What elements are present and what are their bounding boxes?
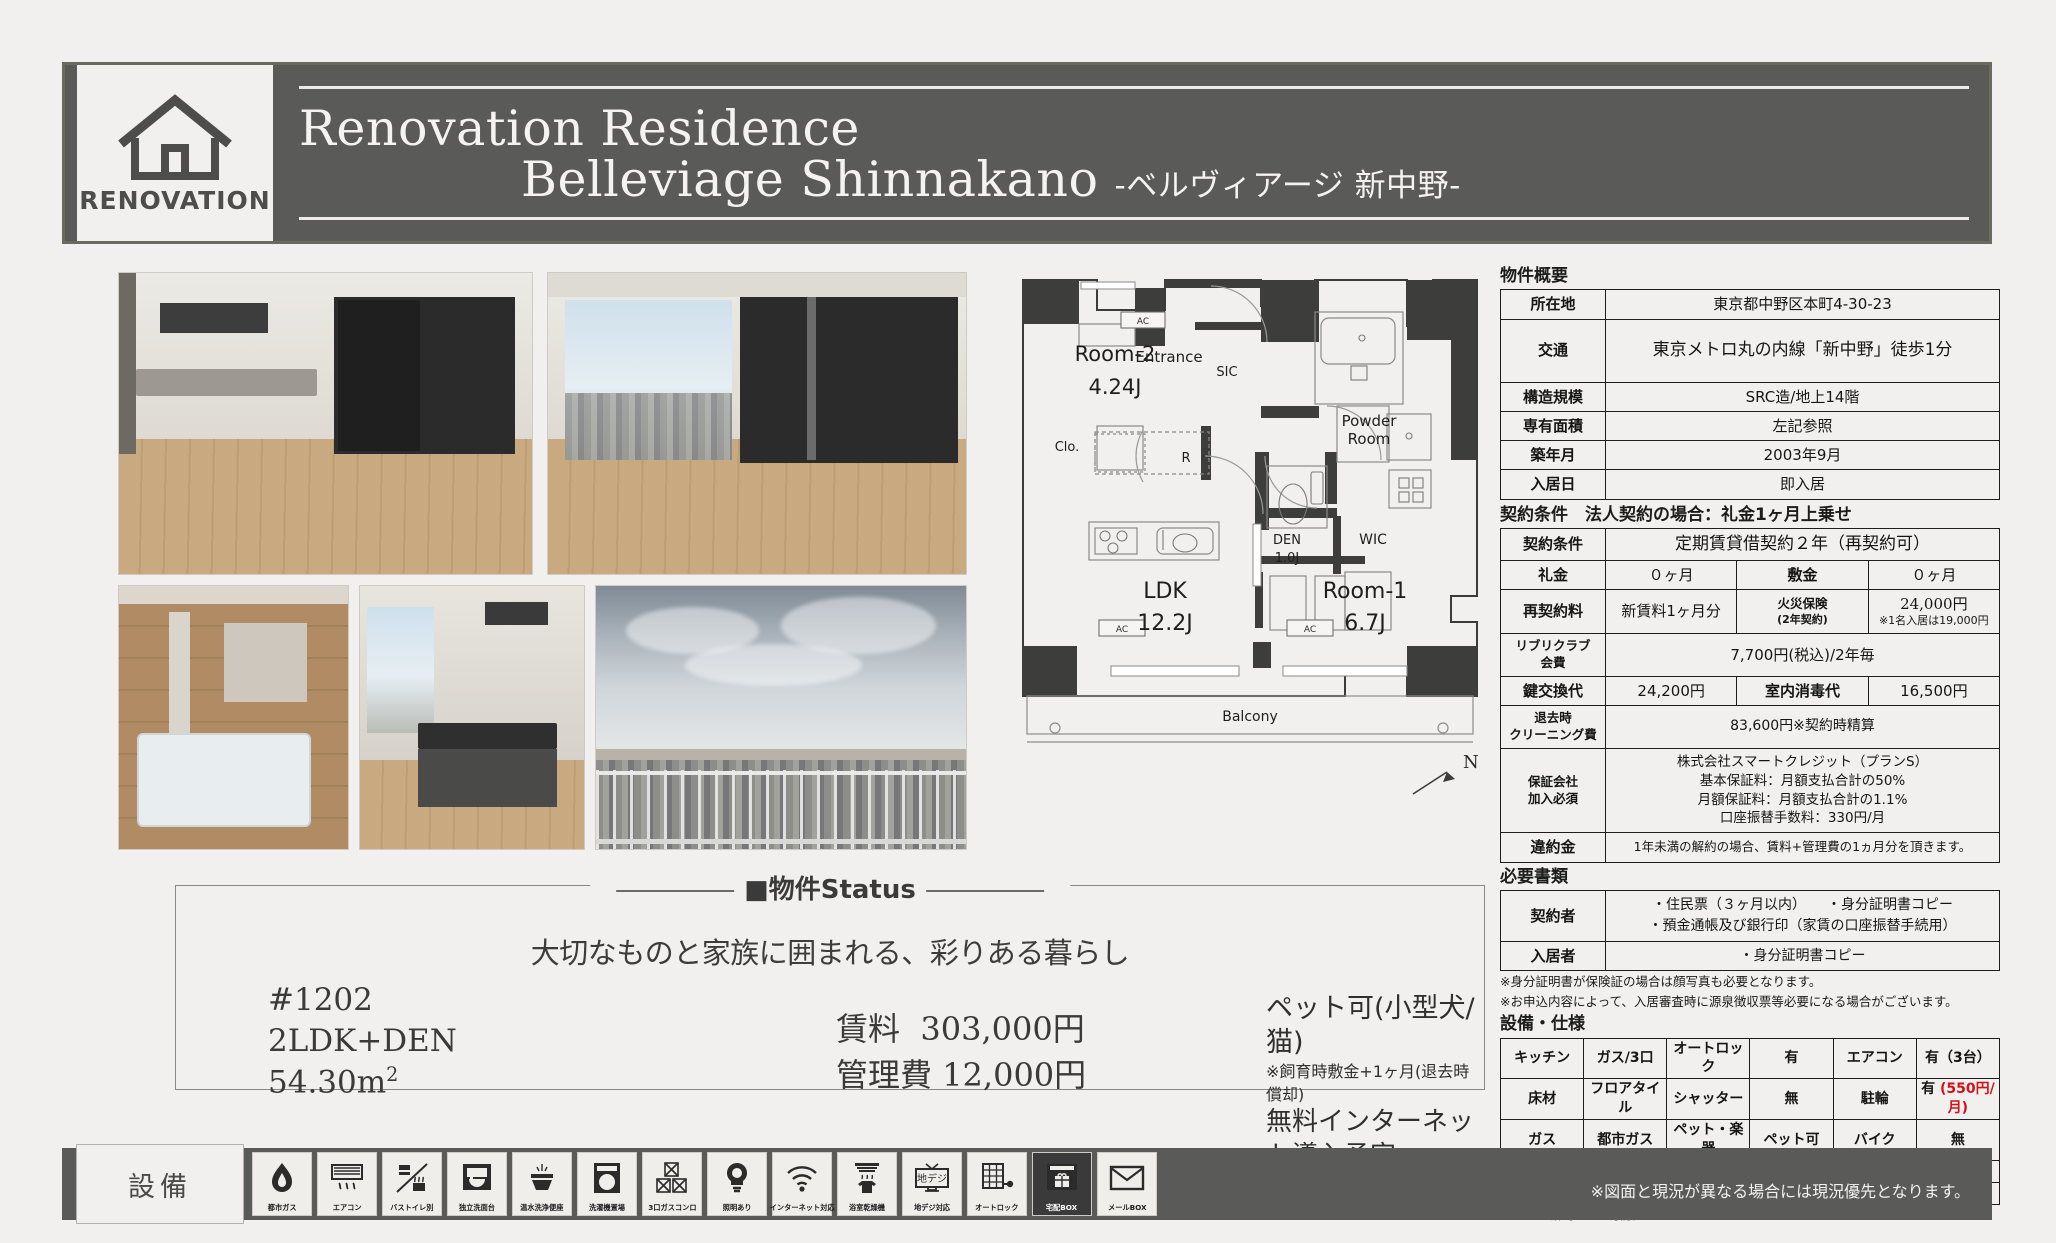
lighting-icon: [708, 1153, 766, 1202]
label-balcony: Balcony: [1222, 709, 1278, 725]
room-label-den: DEN: [1273, 533, 1301, 548]
label-fridge: R: [1181, 451, 1190, 466]
table-row: 再契約料 新賃料1ヶ月分 火災保険(2年契約) 24,000円※1名入居は19,…: [1501, 589, 2000, 633]
page-title-en: Belleviage Shinnakano: [521, 151, 1098, 208]
equipment-item-washing-machine: 洗濯機置場: [577, 1152, 637, 1216]
mail-box-icon: [1098, 1153, 1156, 1202]
table-row: 礼金 ０ヶ月 敷金 ０ヶ月: [1501, 560, 2000, 589]
status-left-block: #1202 2LDK+DEN 54.30m2: [268, 980, 457, 1104]
table-row: 契約条件定期賃貸借契約２年（再契約可）: [1501, 528, 2000, 560]
label-sic: SIC: [1216, 365, 1237, 380]
svg-text:地デジ: 地デジ: [917, 1172, 947, 1185]
photo-living-window-view: [547, 272, 967, 575]
property-status-box: ■物件Status 大切なものと家族に囲まれる、彩りある暮らし #1202 2L…: [175, 885, 1485, 1090]
table-row: 保証会社加入必須 株式会社スマートクレジット（プランS） 基本保証料：月額支払合…: [1501, 748, 2000, 833]
page-title-line2: Belleviage Shinnakano -ベルヴィアージ 新中野-: [299, 154, 1969, 205]
status-price-block: 賃料 303,000円 管理費 12,000円: [836, 1006, 1086, 1099]
disclaimer-text: ※図面と現況が異なる場合には現況優先となります。: [1591, 1178, 1970, 1202]
equipment-item-washlet-toilet: 温水洗浄便座: [512, 1152, 572, 1216]
north-arrow-icon: N: [1413, 752, 1479, 794]
delivery-box-icon: [1033, 1153, 1091, 1202]
equipment-item-air-conditioner: エアコン: [317, 1152, 377, 1216]
auto-lock-icon: [968, 1153, 1026, 1202]
room-number: #1202: [268, 980, 457, 1021]
air-conditioner-icon: [318, 1153, 376, 1202]
equipment-icon-strip: 都市ガス エアコン バストイレ別 独立洗面台 温水洗浄便座: [252, 1152, 1157, 1216]
label-closet: Clo.: [1055, 440, 1080, 455]
ac-label: AC: [1116, 625, 1128, 635]
rent-row: 賃料 303,000円: [836, 1006, 1086, 1052]
header-rule-bottom: [299, 217, 1969, 220]
catchcopy: 大切なものと家族に囲まれる、彩りある暮らし: [176, 930, 1484, 972]
bicycle-parking-value: 有 (550円/月): [1916, 1079, 1999, 1120]
photo-living-kitchen: [118, 272, 533, 575]
documents-note-1: ※身分証明書が保険証の場合は顔写真も必要となります。: [1500, 973, 2000, 991]
bathroom-dryer-icon: [838, 1153, 896, 1202]
label-room: Room: [1348, 430, 1391, 448]
ac-label: AC: [1304, 625, 1316, 635]
equipment-item-bathroom-dryer: 浴室乾燥機: [837, 1152, 897, 1216]
three-burner-stove-icon: [643, 1153, 701, 1202]
overview-table: 所在地東京都中野区本町4-30-23 交通東京メトロ丸の内線「新中野」徒歩1分 …: [1500, 289, 2000, 499]
washlet-toilet-icon: [513, 1153, 571, 1202]
label-entrance: Entrance: [1135, 348, 1202, 366]
table-row: 退去時クリーニング費 83,600円※契約時精算: [1501, 706, 2000, 749]
equipment-item-bath-toilet-separate: バストイレ別: [382, 1152, 442, 1216]
equipment-item-city-gas: 都市ガス: [252, 1152, 312, 1216]
page-title-jp: -ベルヴィアージ 新中野-: [1115, 168, 1461, 204]
logo-wordmark: RENOVATION: [79, 186, 270, 215]
mgmt-row: 管理費 12,000円: [836, 1052, 1086, 1098]
label-powder: Powder: [1342, 412, 1398, 430]
room-size-room1: 6.7J: [1344, 611, 1385, 636]
mgmt-label: 管理費: [836, 1056, 932, 1094]
table-row: 専有面積左記参照: [1501, 411, 2000, 440]
photo-bathroom: [118, 585, 349, 850]
room-label-room1: Room-1: [1323, 579, 1408, 604]
bath-toilet-separate-icon: [383, 1153, 441, 1202]
washing-machine-icon: [578, 1153, 636, 1202]
table-row: 築年月2003年9月: [1501, 441, 2000, 470]
table-row: 所在地東京都中野区本町4-30-23: [1501, 290, 2000, 319]
room-size-den: 1.0J: [1275, 551, 1300, 566]
mgmt-value: 12,000円: [942, 1056, 1086, 1094]
status-section-title: ■物件Status: [590, 869, 1070, 906]
photo-kitchen-counter: [359, 585, 585, 850]
header-rule-top: [299, 86, 1969, 89]
documents-note-2: ※お申込内容によって、入居審査時に源泉徴収票等必要になる場合がございます。: [1500, 993, 2000, 1011]
equipment-item-three-burner-stove: 3口ガスコンロ: [642, 1152, 702, 1216]
contract-table: 契約条件定期賃貸借契約２年（再契約可） 礼金 ０ヶ月 敷金 ０ヶ月 再契約料 新…: [1500, 528, 2000, 863]
table-row: 入居者 ・身分証明書コピー: [1501, 941, 2000, 970]
pet-note-text: ※飼育時敷金+1ヶ月(退去時償却): [1266, 1060, 1484, 1106]
documents-heading: 必要書類: [1500, 867, 2000, 888]
equipment-item-internet: インターネット対応: [772, 1152, 832, 1216]
digital-tv-icon: 地デジ: [903, 1153, 961, 1202]
page-title-line1: Renovation Residence: [299, 103, 1969, 154]
room-size-room2: 4.24J: [1089, 375, 1142, 399]
overview-heading: 物件概要: [1500, 266, 2000, 287]
table-row: 交通東京メトロ丸の内線「新中野」徒歩1分: [1501, 319, 2000, 382]
photo-city-view: [595, 585, 967, 850]
rent-value: 303,000円: [920, 1010, 1084, 1048]
ac-label: AC: [1137, 317, 1149, 327]
status-right-block: ペット可(小型犬/猫) ※飼育時敷金+1ヶ月(退去時償却) 無料インターネット導…: [1266, 992, 1484, 1173]
equipment-item-lighting: 照明あり: [707, 1152, 767, 1216]
table-row: 構造規模SRC造/地上14階: [1501, 382, 2000, 411]
room-size-ldk: 12.2J: [1137, 611, 1192, 636]
floor-plan: AC AC AC Room-2 4.24J Entrance SIC Powde…: [1015, 266, 1485, 886]
internet-wifi-icon: [773, 1153, 831, 1202]
setsubi-label: 設備: [76, 1144, 244, 1224]
label-wic: WIC: [1359, 532, 1387, 548]
floor-area: 54.30m2: [268, 1062, 457, 1104]
mysoku-flyer: RENOVATION Renovation Residence Bellevia…: [0, 0, 2056, 1243]
house-icon: [111, 92, 239, 184]
pet-allowed-text: ペット可(小型犬/猫): [1266, 992, 1484, 1060]
equipment-item-auto-lock: オートロック: [967, 1152, 1027, 1216]
table-row: 契約者 ・住民票（３ヶ月以内） ・身分証明書コピー・預金通帳及び銀行印（家賃の口…: [1501, 890, 2000, 941]
header-title-block: Renovation Residence Belleviage Shinnaka…: [273, 65, 1989, 241]
page-header: RENOVATION Renovation Residence Bellevia…: [62, 62, 1992, 244]
contract-heading: 契約条件 法人契約の場合：礼金1ヶ月上乗せ: [1500, 505, 2000, 526]
renovation-logo: RENOVATION: [77, 65, 273, 241]
table-row: 違約金 1年未満の解約の場合、賃料+管理費の1ヵ月分を頂きます。: [1501, 833, 2000, 862]
table-row: キッチンガス/3口 オートロック有 エアコン有（3台）: [1501, 1038, 2000, 1079]
rent-label: 賃料: [836, 1010, 900, 1048]
right-info-column: 物件概要 所在地東京都中野区本町4-30-23 交通東京メトロ丸の内線「新中野」…: [1500, 266, 2000, 1223]
equipment-item-delivery-box: 宅配BOX: [1032, 1152, 1092, 1216]
status-title-text: ■物件Status: [744, 875, 916, 905]
room-label-ldk: LDK: [1143, 579, 1187, 604]
table-row: 入居日即入居: [1501, 470, 2000, 499]
table-row: 鍵交換代 24,200円 室内消毒代 16,500円: [1501, 676, 2000, 705]
gas-flame-icon: [253, 1153, 311, 1202]
spec-heading: 設備・仕様: [1500, 1014, 2000, 1035]
table-row: リブリクラブ会費 7,700円(税込)/2年毎: [1501, 634, 2000, 677]
equipment-item-digital-tv: 地デジ 地デジ対応: [902, 1152, 962, 1216]
equipment-item-mail-box: メールBOX: [1097, 1152, 1157, 1216]
equipment-item-independent-washstand: 独立洗面台: [447, 1152, 507, 1216]
photo-gallery: [118, 272, 1008, 862]
independent-washstand-icon: [448, 1153, 506, 1202]
documents-table: 契約者 ・住民票（３ヶ月以内） ・身分証明書コピー・預金通帳及び銀行印（家賃の口…: [1500, 890, 2000, 971]
table-row: 床材フロアタイル シャッター無 駐輪 有 (550円/月): [1501, 1079, 2000, 1120]
svg-text:N: N: [1463, 752, 1479, 773]
layout-type: 2LDK+DEN: [268, 1021, 457, 1062]
